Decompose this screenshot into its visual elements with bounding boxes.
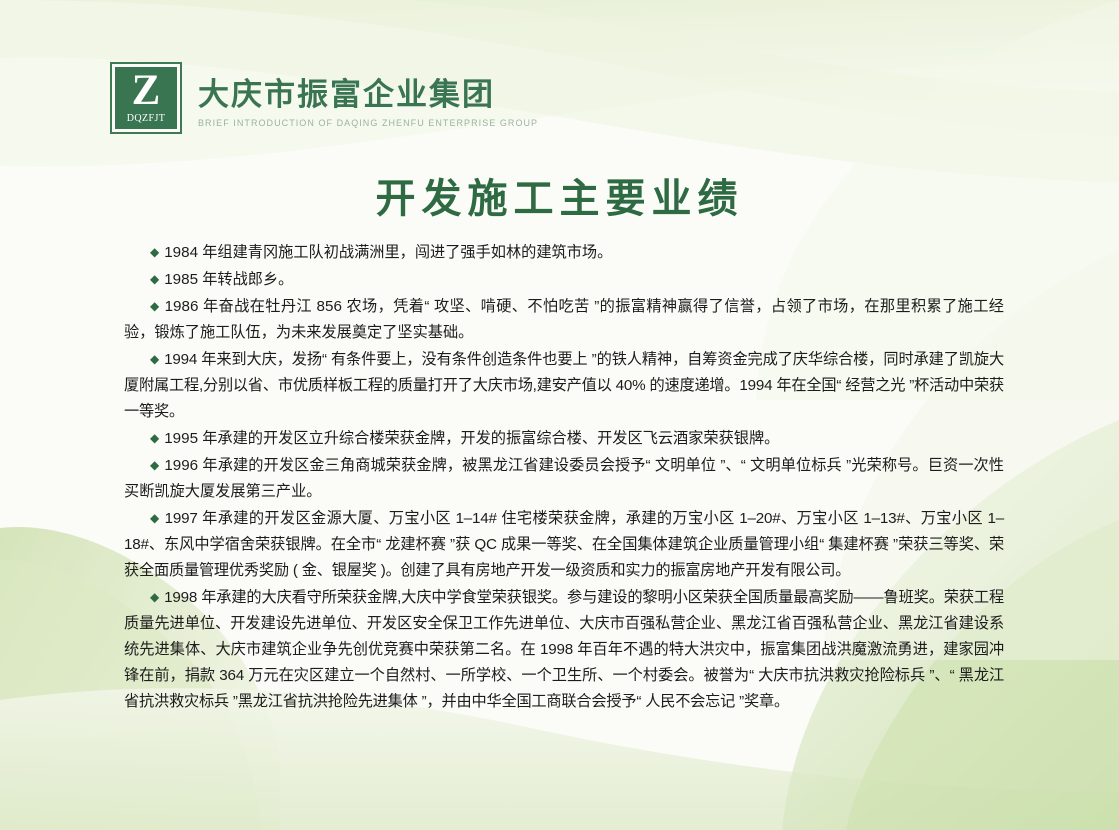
paragraph-1996: ◆1996 年承建的开发区金三角商城荣获金牌，被黑龙江省建设委员会授予“ 文明单… xyxy=(124,453,1004,505)
bullet-icon: ◆ xyxy=(150,299,160,313)
paragraph-text: 1997 年承建的开发区金源大厦、万宝小区 1–14# 住宅楼荣获金牌，承建的万… xyxy=(124,510,1004,579)
paragraph-1985: ◆1985 年转战郎乡。 xyxy=(124,267,1004,293)
company-logo-icon: Z DQZFJT xyxy=(110,62,182,134)
paragraph-text: 1996 年承建的开发区金三角商城荣获金牌，被黑龙江省建设委员会授予“ 文明单位… xyxy=(124,457,1004,500)
paragraph-1997: ◆1997 年承建的开发区金源大厦、万宝小区 1–14# 住宅楼荣获金牌，承建的… xyxy=(124,506,1004,584)
paragraph-text: 1998 年承建的大庆看守所荣获金牌,大庆中学食堂荣获银奖。参与建设的黎明小区荣… xyxy=(124,589,1004,710)
paragraph-1984: ◆1984 年组建青冈施工队初战满洲里，闯进了强手如林的建筑市场。 xyxy=(124,240,1004,266)
paragraph-1995: ◆1995 年承建的开发区立升综合楼荣获金牌，开发的振富综合楼、开发区飞云酒家荣… xyxy=(124,426,1004,452)
page-title: 开发施工主要业绩 xyxy=(0,166,1119,224)
logo-letter: Z xyxy=(132,70,161,112)
paragraph-text: 1984 年组建青冈施工队初战满洲里，闯进了强手如林的建筑市场。 xyxy=(164,244,612,261)
company-name-cn: 大庆市振富企业集团 xyxy=(198,78,538,112)
logo-abbreviation: DQZFJT xyxy=(127,113,166,124)
slide-page: Z DQZFJT 大庆市振富企业集团 BRIEF INTRODUCTION OF… xyxy=(0,0,1119,830)
content-body: ◆1984 年组建青冈施工队初战满洲里，闯进了强手如林的建筑市场。 ◆1985 … xyxy=(124,240,1004,716)
bullet-icon: ◆ xyxy=(150,245,159,259)
paragraph-text: 1994 年来到大庆，发扬“ 有条件要上，没有条件创造条件也要上 ”的铁人精神，… xyxy=(124,351,1004,420)
bullet-icon: ◆ xyxy=(150,590,159,604)
bullet-icon: ◆ xyxy=(150,431,159,445)
brand-text-block: 大庆市振富企业集团 BRIEF INTRODUCTION OF DAQING Z… xyxy=(198,62,538,128)
paragraph-1994: ◆1994 年来到大庆，发扬“ 有条件要上，没有条件创造条件也要上 ”的铁人精神… xyxy=(124,347,1004,425)
paragraph-1998: ◆1998 年承建的大庆看守所荣获金牌,大庆中学食堂荣获银奖。参与建设的黎明小区… xyxy=(124,585,1004,715)
brand-lockup: Z DQZFJT 大庆市振富企业集团 BRIEF INTRODUCTION OF… xyxy=(110,62,538,134)
bullet-icon: ◆ xyxy=(150,458,159,472)
bullet-icon: ◆ xyxy=(150,352,159,366)
bullet-icon: ◆ xyxy=(150,511,160,525)
paragraph-text: 1986 年奋战在牡丹江 856 农场，凭着“ 攻坚、啃硬、不怕吃苦 ”的振富精… xyxy=(124,298,1004,341)
paragraph-text: 1995 年承建的开发区立升综合楼荣获金牌，开发的振富综合楼、开发区飞云酒家荣获… xyxy=(164,430,779,447)
company-name-en: BRIEF INTRODUCTION OF DAQING ZHENFU ENTE… xyxy=(198,118,538,128)
bullet-icon: ◆ xyxy=(150,272,159,286)
paragraph-1986: ◆1986 年奋战在牡丹江 856 农场，凭着“ 攻坚、啃硬、不怕吃苦 ”的振富… xyxy=(124,294,1004,346)
paragraph-text: 1985 年转战郎乡。 xyxy=(164,271,293,288)
